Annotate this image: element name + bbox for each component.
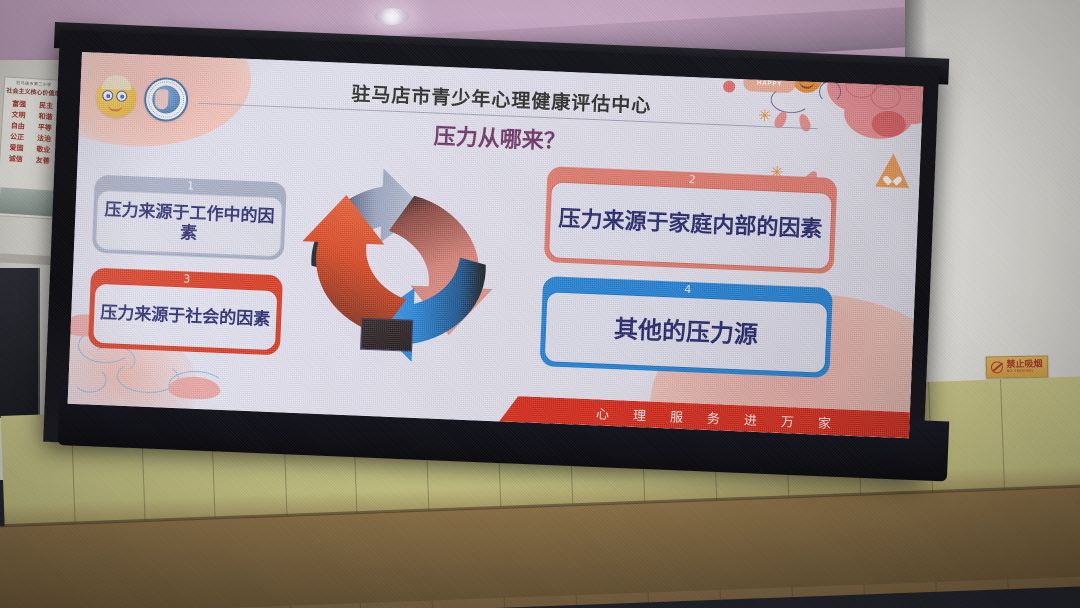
- card-1-text: 压力来源于工作中的因素: [95, 190, 283, 258]
- banner-char: 务: [707, 407, 723, 427]
- banner-char: 进: [744, 409, 760, 429]
- slide-title: 驻马店市青少年心理健康评估中心: [351, 79, 652, 118]
- left-dark-opening: [0, 268, 40, 418]
- red-dot-decor: [723, 80, 735, 92]
- card-2-text: 压力来源于家庭内部的因素: [548, 181, 833, 269]
- poster-values-grid: 富强 民主 文明 和谐 自由 平等 公正 法治 爱国 敬业 诚信 友善: [2, 99, 60, 167]
- poster-value: 诚信: [2, 153, 30, 165]
- card-3-text: 压力来源于社会的因素: [92, 283, 278, 351]
- led-screen: HAPPY ✳ ✳: [68, 52, 924, 438]
- banner-char: 服: [670, 406, 686, 426]
- poster-subheader: 社会主义核心价值观: [6, 86, 60, 98]
- card-1: 1 压力来源于工作中的因素: [92, 175, 287, 261]
- card-3: 3 压力来源于社会的因素: [88, 268, 283, 356]
- black-artifact-box: [360, 318, 413, 352]
- slide-canvas: HAPPY ✳ ✳: [68, 52, 924, 438]
- banner-char: 家: [818, 412, 834, 432]
- card-4-text: 其他的压力源: [544, 291, 829, 374]
- no-smoking-sign: 禁止吸烟 NO SMOKING: [986, 355, 1048, 378]
- poster-value: 友善: [29, 155, 57, 167]
- poster-illustration: [0, 187, 56, 216]
- banner-char: 心: [596, 403, 612, 423]
- no-smoking-icon: [991, 361, 1003, 373]
- no-smoking-label-en: NO SMOKING: [1007, 369, 1043, 373]
- card-2: 2 压力来源于家庭内部的因素: [544, 166, 838, 274]
- cycle-arrow-diagram: [292, 161, 506, 369]
- banner-char: 理: [633, 404, 649, 424]
- ceiling-downlight-2: [375, 8, 409, 25]
- banner-char: 万: [781, 410, 797, 430]
- card-4: 4 其他的压力源: [540, 276, 833, 378]
- photo-scene: 禁止吸烟 NO SMOKING 请随手关灯 节约用电 驻马店市第二小学 社会主义…: [0, 0, 1080, 608]
